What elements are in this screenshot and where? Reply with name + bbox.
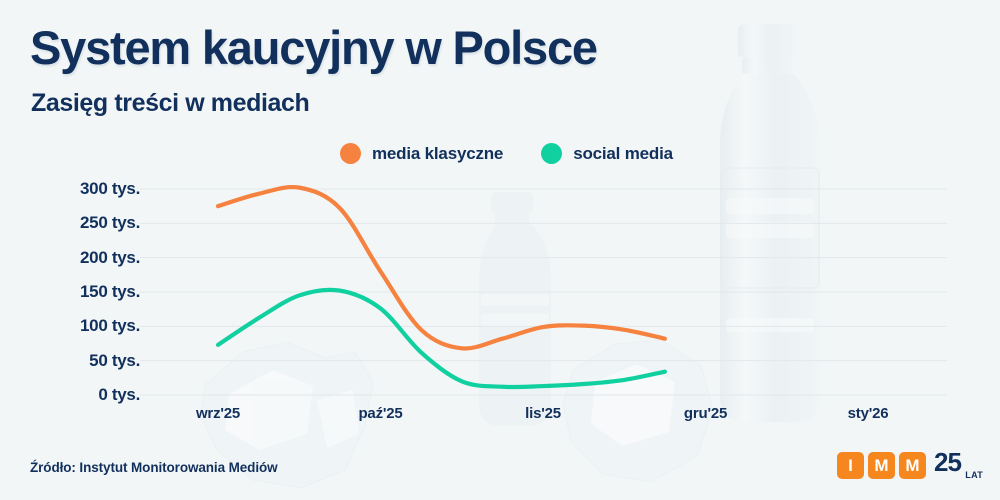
- y-axis-tick-label: 100 tys.: [0, 316, 140, 336]
- y-axis-tick-label: 250 tys.: [0, 213, 140, 233]
- x-axis-tick-label: wrz'25: [196, 405, 240, 422]
- imm-logo[interactable]: I M M 25 LAT: [837, 450, 980, 480]
- line-chart: 300 tys.250 tys.200 tys.150 tys.100 tys.…: [0, 0, 1000, 500]
- x-axis-tick-label: lis'25: [525, 405, 561, 422]
- chart-canvas: [0, 0, 1000, 500]
- series-line-media-klasyczne[interactable]: [218, 187, 665, 348]
- series-line-social-media[interactable]: [218, 290, 665, 387]
- y-axis-tick-label: 200 tys.: [0, 248, 140, 268]
- logo-letter-i: I: [837, 452, 864, 479]
- y-axis-tick-label: 50 tys.: [0, 351, 140, 371]
- x-axis-tick-label: sty'26: [848, 405, 889, 422]
- logo-years-unit: LAT: [965, 470, 983, 480]
- logo-letter-m-1: M: [868, 452, 895, 479]
- y-axis-tick-label: 0 tys.: [0, 385, 140, 405]
- logo-letter-m-2: M: [899, 452, 926, 479]
- y-axis-tick-label: 300 tys.: [0, 179, 140, 199]
- infographic-page: System kaucyjny w Polsce Zasięg treści w…: [0, 0, 1000, 500]
- logo-years: 25: [934, 449, 961, 475]
- logo-anniversary: 25 LAT: [934, 450, 980, 480]
- x-axis-tick-label: gru'25: [684, 405, 727, 422]
- source-note: Źródło: Instytut Monitorowania Mediów: [30, 460, 278, 475]
- y-axis-tick-label: 150 tys.: [0, 282, 140, 302]
- x-axis-tick-label: paź'25: [358, 405, 402, 422]
